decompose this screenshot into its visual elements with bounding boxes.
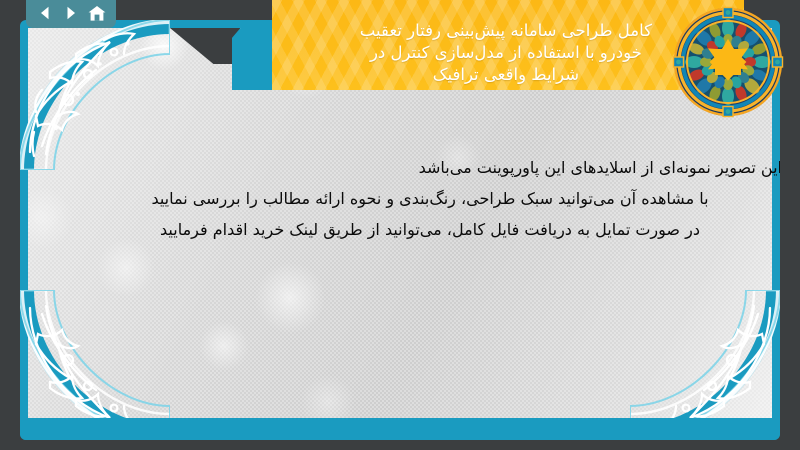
prev-slide-button[interactable] <box>33 2 57 24</box>
slide-bottom-band <box>20 418 780 440</box>
body-line-1: این تصویر نمونه‌ای از اسلایدهای این پاور… <box>60 152 780 183</box>
slide-body-text: این تصویر نمونه‌ای از اسلایدهای این پاور… <box>60 152 780 246</box>
triangle-right-icon <box>63 5 79 21</box>
triangle-left-icon <box>37 5 53 21</box>
body-line-2: با مشاهده آن می‌توانید سبک طراحی، رنگ‌بن… <box>60 183 780 214</box>
slide-viewer: این تصویر نمونه‌ای از اسلایدهای این پاور… <box>0 0 800 450</box>
home-button[interactable] <box>85 2 109 24</box>
slide-frame: این تصویر نمونه‌ای از اسلایدهای این پاور… <box>20 20 780 440</box>
body-line-3: در صورت تمایل به دریافت فایل کامل، می‌تو… <box>60 214 780 245</box>
next-slide-button[interactable] <box>59 2 83 24</box>
home-icon <box>88 5 106 22</box>
slide-navigation-bar[interactable] <box>26 0 116 28</box>
